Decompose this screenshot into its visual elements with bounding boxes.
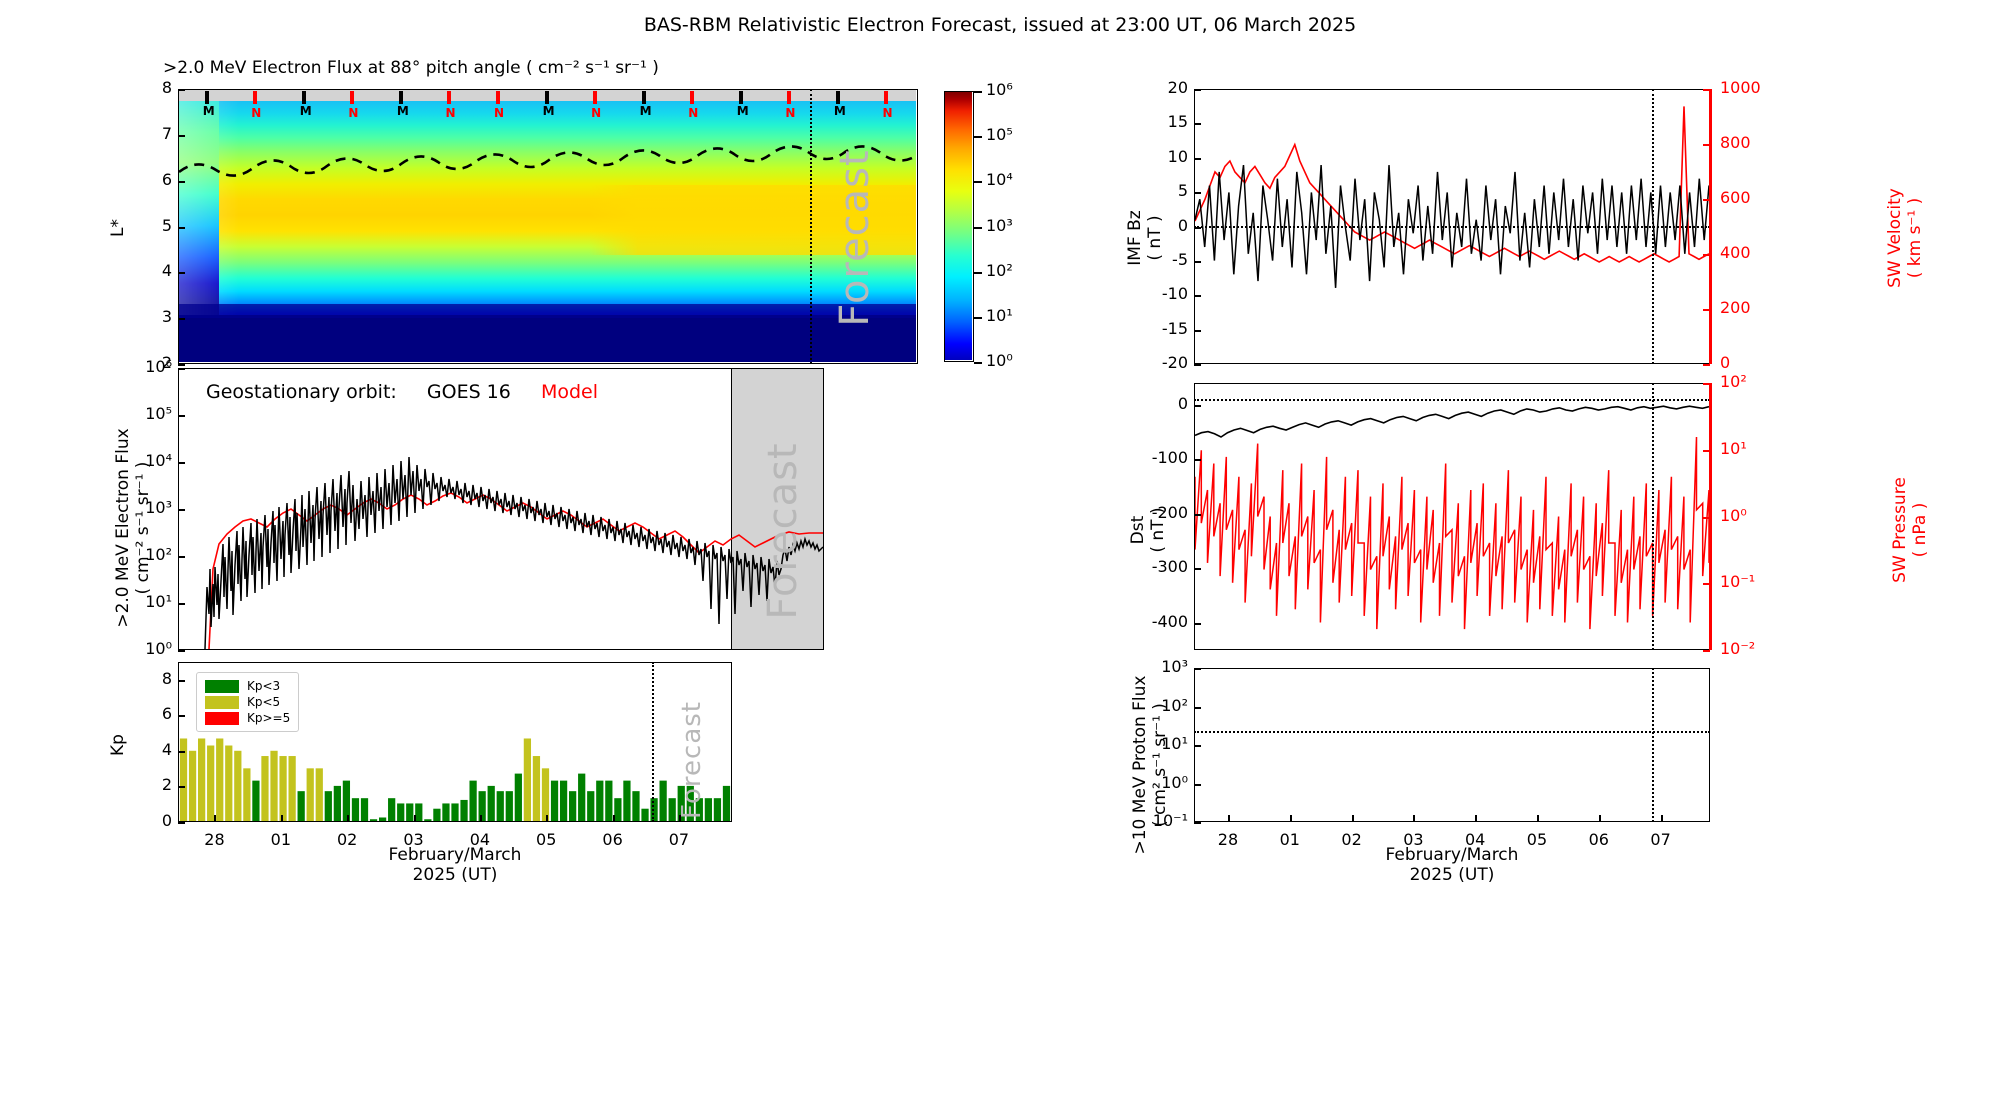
geo-flux-ylabel-line2: ( cm⁻² s⁻¹ sr⁻¹ ): [133, 388, 153, 668]
flux-map-ytick-tick-0: [178, 364, 185, 366]
colorbar-tick-2: 10²: [986, 261, 1013, 280]
geo-flux-goes-line: [205, 457, 823, 649]
kp-bar: [533, 756, 540, 821]
kp-bar: [433, 809, 440, 821]
kp-bar: [289, 756, 296, 821]
sw-pressure-ytick-3: 10¹: [1720, 439, 1747, 458]
right-xtick-mark-6: [1599, 815, 1601, 822]
flux-map-ytick-1: 3: [162, 307, 172, 326]
kp-legend-item-mid: Kp<5: [205, 695, 290, 709]
sw-pressure-ylabel: SW Pressure ( nPa ): [1890, 425, 1930, 635]
sw-velocity-ytick-3: 600: [1720, 188, 1751, 207]
left-xtick-mark-0: [214, 815, 216, 822]
mn-label-2: M: [300, 104, 312, 118]
left-xtick-mark-3: [414, 815, 416, 822]
kp-bar: [216, 738, 223, 821]
mn-label-4: M: [397, 104, 409, 118]
kp-ytick-0: 0: [162, 811, 172, 830]
colorbar-tick-0: 10⁰: [986, 351, 1013, 370]
flux-map-ytick-6: 8: [162, 78, 172, 97]
kp-bar: [551, 781, 558, 821]
kp-ytick-mark-3: [178, 715, 185, 717]
mn-tick-m-9: [642, 91, 646, 104]
proton-flux-threshold-line: [1194, 731, 1710, 733]
mn-label-8: N: [591, 106, 601, 120]
mn-label-10: N: [688, 106, 698, 120]
flux-map-ytick-4: 6: [162, 170, 172, 189]
colorbar-gradient: [945, 92, 972, 360]
forecast-watermark-geo-flux: Forecast: [760, 436, 806, 626]
mn-tick-n-5: [447, 91, 451, 104]
imf-bz-ytick-tick-3: [1194, 261, 1201, 263]
sw-pressure-ytick-4: 10²: [1720, 372, 1747, 391]
flux-map-ylabel: L*: [108, 198, 128, 258]
kp-ytick-mark-0: [178, 822, 185, 824]
sw-velocity-ytick-1: 200: [1720, 298, 1751, 317]
geo-flux-ytick-3: 10³: [145, 498, 172, 517]
mn-tick-n-10: [690, 91, 694, 104]
right-xtick-mark-2: [1352, 815, 1354, 822]
imf-bz-ytick-2: -10: [1162, 284, 1188, 303]
kp-bar: [714, 798, 721, 821]
kp-bar: [515, 774, 522, 821]
imf-bz-ylabel: IMF Bz ( nT ): [1125, 148, 1165, 328]
imf-bz-ytick-tick-7: [1194, 123, 1201, 125]
dst-ytick-mark-0: [1194, 623, 1201, 625]
forecast-divider-flux-map: [810, 89, 812, 364]
right-xtick-mark-0: [1228, 815, 1230, 822]
mn-label-12: N: [785, 106, 795, 120]
forecast-watermark-kp: Forecast: [677, 680, 707, 840]
geo-flux-ylabel-line1: >2.0 MeV Electron Flux: [113, 388, 133, 668]
kp-bar: [307, 768, 314, 821]
kp-bar: [198, 738, 205, 821]
proton-flux-ytick-2: 10¹: [1161, 734, 1188, 753]
kp-bar: [451, 803, 458, 821]
imf-bz-ytick-0: -20: [1162, 353, 1188, 372]
mn-tick-m-0: [205, 91, 209, 104]
imf-bz-ytick-tick-1: [1194, 330, 1201, 332]
kp-bar: [261, 756, 268, 821]
kp-bar: [415, 803, 422, 821]
kp-bar: [243, 768, 250, 821]
proton-flux-ytick-1: 10⁰: [1161, 773, 1188, 792]
left-xtick-mark-4: [480, 815, 482, 822]
left-xtick-mark-2: [347, 815, 349, 822]
flux-map-ytick-tick-3: [178, 227, 185, 229]
imf-bz-ytick-3: -5: [1172, 250, 1188, 269]
imf-bz-ytick-tick-5: [1194, 192, 1201, 194]
kp-bar: [298, 791, 305, 821]
imf-bz-ytick-5: 5: [1178, 181, 1188, 200]
colorbar: [944, 91, 974, 362]
kp-bar: [460, 800, 467, 821]
sw-velocity-ytick-mark-0: [1703, 364, 1710, 366]
sw-velocity-ytick-0: 0: [1720, 353, 1730, 372]
geo-flux-ytick-tick-0: [178, 650, 185, 652]
flux-map-ytick-tick-5: [178, 135, 185, 137]
colorbar-tick-mark-5: [974, 136, 982, 138]
geo-flux-ytick-tick-1: [178, 603, 185, 605]
kp-legend-swatch-mid: [205, 696, 239, 709]
sw-velocity-ytick-2: 400: [1720, 243, 1751, 262]
dst-ylabel-line1: Dst: [1128, 440, 1148, 620]
kp-bar: [379, 817, 386, 821]
forecast-divider-imf-bz: [1652, 89, 1654, 364]
sw-pressure-ytick-1: 10⁻¹: [1720, 572, 1755, 591]
sw-velocity-line: [1195, 106, 1709, 262]
kp-bar: [388, 798, 395, 821]
kp-ytick-mark-1: [178, 786, 185, 788]
kp-bar: [406, 803, 413, 821]
imf-bz-ytick-7: 15: [1168, 112, 1188, 131]
left-xtick-mark-6: [613, 815, 615, 822]
kp-bar: [542, 768, 549, 821]
mn-label-7: M: [543, 104, 555, 118]
kp-bar: [723, 786, 730, 821]
right-xtick-mark-5: [1537, 815, 1539, 822]
dst-ytick-mark-3: [1194, 459, 1201, 461]
colorbar-tick-mark-1: [974, 317, 982, 319]
geo-flux-ytick-0: 10⁰: [145, 639, 172, 658]
kp-bar: [660, 781, 667, 821]
imf-bz-ytick-tick-8: [1194, 89, 1201, 91]
kp-bar: [234, 751, 241, 821]
proton-flux-ylabel-line1: >10 MeV Proton Flux: [1130, 620, 1150, 910]
kp-bar: [614, 798, 621, 821]
proton-flux-ytick-tick-2: [1194, 745, 1201, 747]
geo-flux-ytick-tick-5: [178, 415, 185, 417]
kp-bar: [270, 751, 277, 821]
mn-label-5: N: [445, 106, 455, 120]
imf-bz-ytick-1: -15: [1162, 319, 1188, 338]
colorbar-tick-mark-4: [974, 181, 982, 183]
sw-pressure-ytick-2: 10⁰: [1720, 506, 1747, 525]
kp-ytick-1: 2: [162, 775, 172, 794]
right-xtick-mark-7: [1661, 815, 1663, 822]
proton-flux-ytick-0: 10⁻¹: [1153, 811, 1188, 830]
kp-bar: [497, 791, 504, 821]
dst-ytick-1: -300: [1152, 557, 1188, 576]
right-xaxis-label-line2: 2025 (UT): [1194, 865, 1710, 885]
kp-bar: [361, 798, 368, 821]
forecast-divider-proton: [1652, 668, 1654, 822]
geo-flux-ylabel: >2.0 MeV Electron Flux ( cm⁻² s⁻¹ sr⁻¹ ): [113, 388, 153, 668]
proton-flux-ytick-tick-1: [1194, 784, 1201, 786]
flux-map-ytick-5: 7: [162, 124, 172, 143]
kp-ytick-3: 6: [162, 704, 172, 723]
dst-ytick-2: -200: [1152, 503, 1188, 522]
right-xaxis-label-line1: February/March: [1194, 845, 1710, 865]
colorbar-tick-3: 10³: [986, 216, 1013, 235]
dst-line: [1195, 406, 1709, 437]
dst-ytick-4: 0: [1178, 394, 1188, 413]
imf-bz-zero-line: [1194, 226, 1710, 228]
flux-map-ytick-tick-4: [178, 181, 185, 183]
kp-legend-label-mid: Kp<5: [247, 695, 280, 709]
mn-tick-n-6: [496, 91, 500, 104]
panel-flux-map[interactable]: [178, 89, 918, 364]
right-xtick-mark-3: [1413, 815, 1415, 822]
kp-bar: [207, 746, 214, 821]
kp-bar: [252, 781, 259, 821]
mn-label-0: M: [203, 104, 215, 118]
dst-ytick-mark-2: [1194, 514, 1201, 516]
kp-legend-swatch-high: [205, 712, 239, 725]
imf-bz-ytick-8: 20: [1168, 78, 1188, 97]
geo-flux-ytick-5: 10⁵: [145, 404, 172, 423]
kp-ytick-4: 8: [162, 669, 172, 688]
sw-velocity-axis-spine: [1709, 89, 1712, 364]
imf-bz-ytick-tick-0: [1194, 364, 1201, 366]
dst-ytick-3: -100: [1152, 448, 1188, 467]
kp-bar: [334, 786, 341, 821]
sw-velocity-ylabel-line1: SW Velocity: [1885, 133, 1905, 343]
flux-map-ytick-tick-6: [178, 89, 185, 91]
mn-label-6: N: [494, 106, 504, 120]
mn-label-11: M: [737, 104, 749, 118]
mn-tick-m-2: [302, 91, 306, 104]
mn-tick-m-11: [739, 91, 743, 104]
mn-tick-n-1: [253, 91, 257, 104]
kp-legend-label-low: Kp<3: [247, 679, 280, 693]
mn-tick-m-7: [545, 91, 549, 104]
kp-bar: [578, 774, 585, 821]
geo-flux-ytick-2: 10²: [145, 545, 172, 564]
colorbar-tick-mark-2: [974, 272, 982, 274]
proton-flux-ytick-tick-4: [1194, 668, 1201, 670]
right-xtick-mark-4: [1475, 815, 1477, 822]
colorbar-tick-4: 10⁴: [986, 170, 1013, 189]
proton-flux-ytick-tick-3: [1194, 707, 1201, 709]
kp-bar: [316, 768, 323, 821]
left-xaxis-label: February/March 2025 (UT): [178, 845, 732, 885]
colorbar-tick-5: 10⁵: [986, 125, 1013, 144]
kp-bar: [596, 781, 603, 821]
dst-zero-line: [1194, 399, 1710, 401]
kp-bar: [632, 791, 639, 821]
mn-label-13: M: [834, 104, 846, 118]
kp-bar: [506, 791, 513, 821]
geo-flux-ytick-6: 10⁶: [145, 357, 172, 376]
kp-bar: [524, 738, 531, 821]
colorbar-tick-6: 10⁶: [986, 80, 1013, 99]
flux-map-ytick-tick-2: [178, 272, 185, 274]
imf-bz-ytick-tick-4: [1194, 227, 1201, 229]
geo-flux-ytick-1: 10¹: [145, 592, 172, 611]
kp-ylabel: Kp: [108, 715, 128, 775]
kp-bar: [605, 781, 612, 821]
forecast-watermark-flux-map: Forecast: [832, 143, 878, 333]
kp-bar: [279, 756, 286, 821]
colorbar-tick-mark-0: [974, 362, 982, 364]
sw-pressure-ylabel-line2: ( nPa ): [1910, 425, 1930, 635]
mn-tick-m-4: [399, 91, 403, 104]
kp-bar: [397, 803, 404, 821]
proton-flux-ytick-tick-0: [1194, 822, 1201, 824]
sw-velocity-ylabel-line2: ( km s⁻¹ ): [1905, 133, 1925, 343]
kp-bar: [442, 803, 449, 821]
right-xtick-mark-1: [1290, 815, 1292, 822]
flux-map-image: [179, 90, 916, 362]
forecast-divider-dst: [1652, 383, 1654, 650]
kp-bar: [469, 781, 476, 821]
sw-pressure-ytick-0: 10⁻²: [1720, 639, 1755, 658]
right-xaxis-label: February/March 2025 (UT): [1194, 845, 1710, 885]
dst-ytick-mark-1: [1194, 568, 1201, 570]
kp-ytick-2: 4: [162, 740, 172, 759]
left-xtick-mark-1: [281, 815, 283, 822]
proton-flux-ytick-3: 10²: [1161, 696, 1188, 715]
kp-bar: [370, 819, 377, 821]
imf-bz-ytick-4: 0: [1178, 216, 1188, 235]
sw-pressure-axis-spine: [1709, 383, 1712, 650]
mn-label-1: N: [251, 106, 261, 120]
colorbar-tick-mark-6: [974, 91, 982, 93]
sw-velocity-ytick-5: 1000: [1720, 78, 1761, 97]
colorbar-tick-mark-3: [974, 227, 982, 229]
dst-traces: [1195, 384, 1709, 649]
kp-legend: Kp<3 Kp<5 Kp>=5: [196, 672, 299, 732]
sw-velocity-ytick-4: 800: [1720, 133, 1751, 152]
panel-proton-flux[interactable]: [1194, 668, 1710, 822]
kp-legend-swatch-low: [205, 680, 239, 693]
left-xtick-mark-5: [546, 815, 548, 822]
mn-tick-n-8: [593, 91, 597, 104]
geo-flux-traces: [179, 369, 823, 649]
kp-bar: [587, 791, 594, 821]
sw-velocity-ylabel: SW Velocity ( km s⁻¹ ): [1885, 133, 1925, 343]
sw-pressure-ytick-mark-0: [1703, 650, 1710, 652]
kp-ytick-mark-2: [178, 751, 185, 753]
kp-bar: [424, 819, 431, 821]
geo-flux-ytick-tick-4: [178, 462, 185, 464]
kp-legend-item-high: Kp>=5: [205, 711, 290, 725]
flux-map-title: >2.0 MeV Electron Flux at 88° pitch angl…: [163, 58, 659, 78]
geo-flux-ytick-tick-2: [178, 556, 185, 558]
imf-bz-ylabel-line1: IMF Bz: [1125, 148, 1145, 328]
flux-map-ytick-2: 4: [162, 261, 172, 280]
kp-ytick-mark-4: [178, 680, 185, 682]
mn-tick-n-12: [787, 91, 791, 104]
kp-bar: [641, 809, 648, 821]
imf-bz-ytick-tick-2: [1194, 295, 1201, 297]
kp-bar: [352, 798, 359, 821]
kp-bar: [560, 781, 567, 821]
dst-ytick-mark-4: [1194, 405, 1201, 407]
kp-legend-item-low: Kp<3: [205, 679, 290, 693]
mn-tick-n-3: [350, 91, 354, 104]
imf-bz-ytick-6: 10: [1168, 147, 1188, 166]
forecast-divider-kp: [652, 662, 654, 822]
imf-bz-ytick-tick-6: [1194, 158, 1201, 160]
kp-bar: [569, 791, 576, 821]
sw-pressure-line: [1195, 437, 1709, 629]
kp-bar: [325, 791, 332, 821]
mn-label-3: N: [348, 106, 358, 120]
kp-legend-label-high: Kp>=5: [247, 711, 290, 725]
flux-map-ytick-3: 5: [162, 216, 172, 235]
page-title: BAS-RBM Relativistic Electron Forecast, …: [0, 14, 2000, 36]
kp-bar: [488, 786, 495, 821]
geo-flux-ytick-4: 10⁴: [145, 451, 172, 470]
kp-bar: [623, 781, 630, 821]
mn-label-14: N: [882, 106, 892, 120]
flux-map-ytick-tick-1: [178, 318, 185, 320]
left-xtick-mark-7: [679, 815, 681, 822]
geo-flux-ytick-tick-6: [178, 368, 185, 370]
left-xaxis-label-line2: 2025 (UT): [178, 865, 732, 885]
mn-label-9: M: [640, 104, 652, 118]
mn-tick-n-14: [884, 91, 888, 104]
mn-tick-m-13: [836, 91, 840, 104]
colorbar-tick-1: 10¹: [986, 306, 1013, 325]
left-xaxis-label-line1: February/March: [178, 845, 732, 865]
geo-flux-ytick-tick-3: [178, 509, 185, 511]
kp-bar: [189, 751, 196, 821]
proton-flux-ytick-4: 10³: [1161, 657, 1188, 676]
kp-bar: [225, 746, 232, 821]
sw-pressure-ylabel-line1: SW Pressure: [1890, 425, 1910, 635]
kp-bar: [669, 798, 676, 821]
